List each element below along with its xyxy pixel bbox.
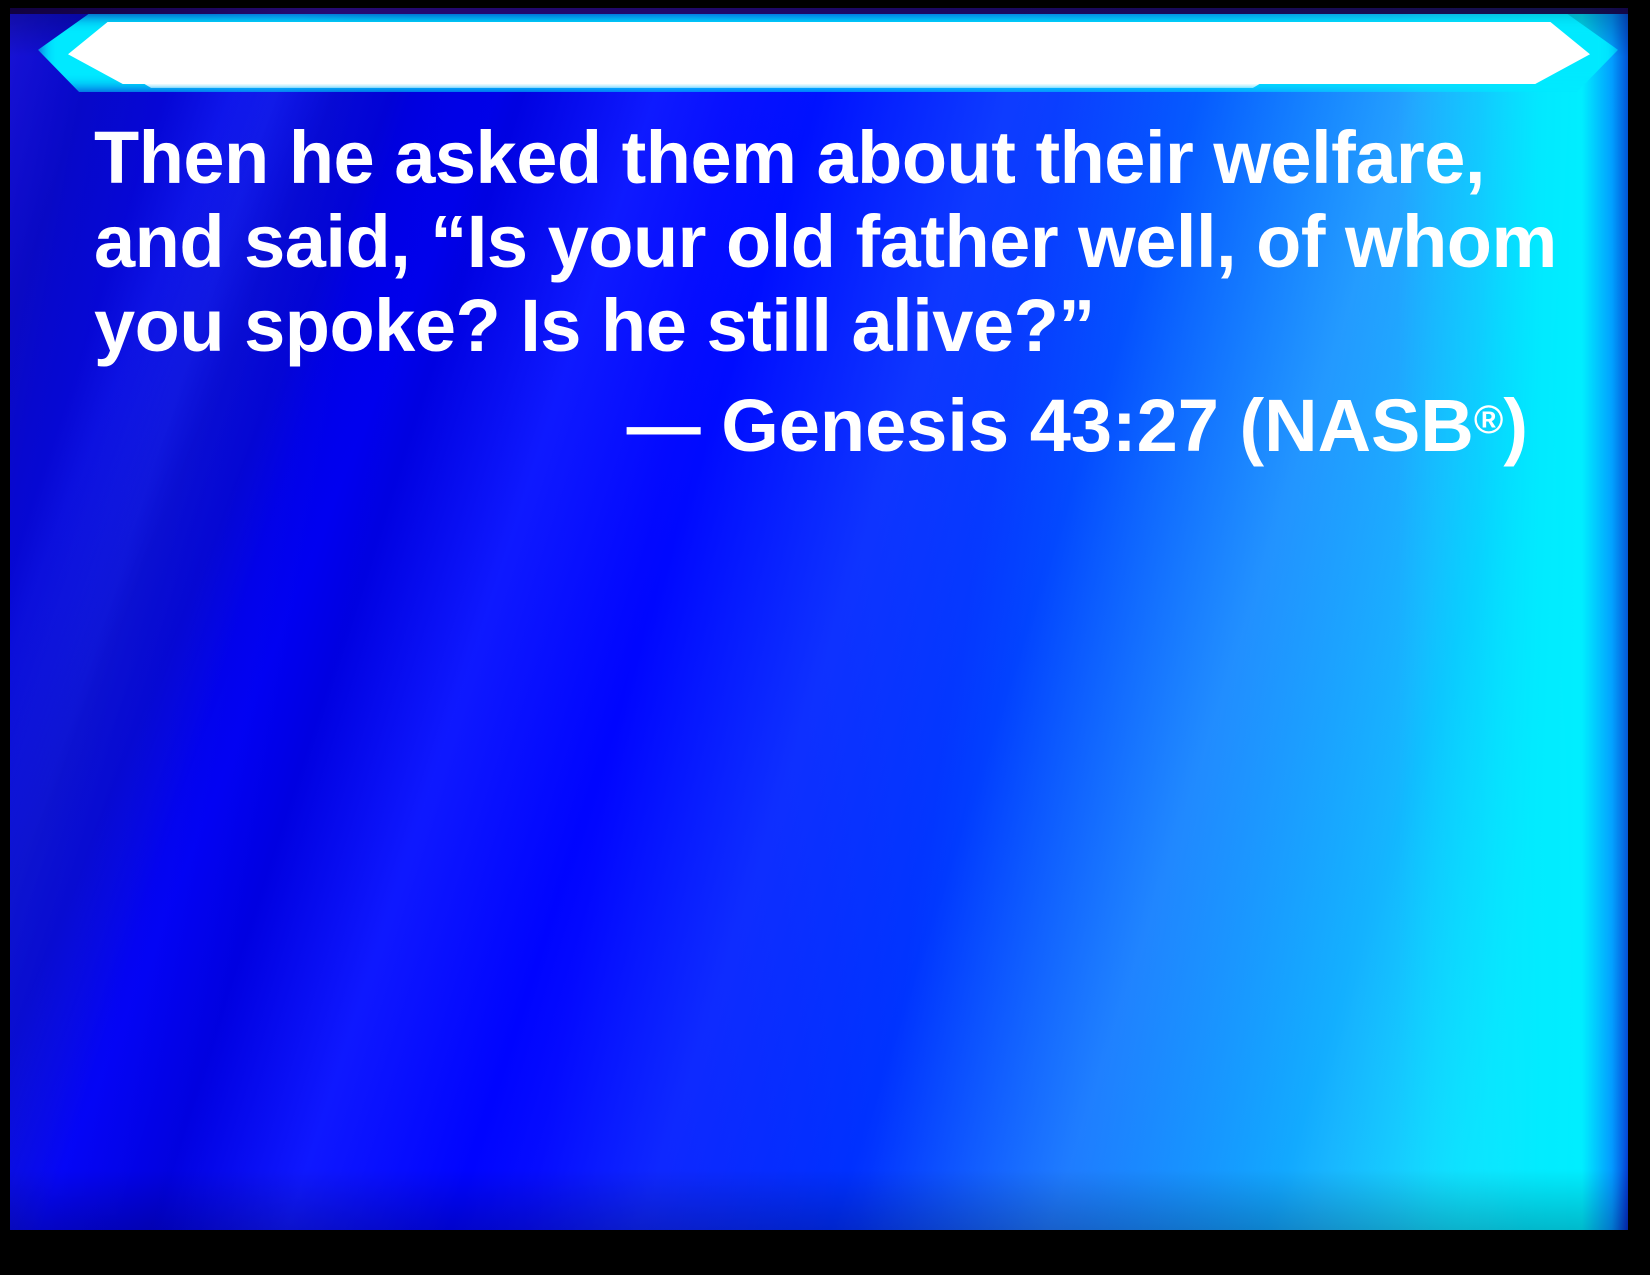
banner-white-core-lower bbox=[76, 50, 1328, 88]
verse-slide: Then he asked them about their welfare, … bbox=[0, 0, 1650, 1275]
verse-line-2: and said, “Is your old father well, of w… bbox=[94, 200, 1534, 284]
verse-line-1: Then he asked them about their welfare, bbox=[94, 116, 1534, 200]
banner-top-rule bbox=[10, 8, 1628, 14]
attribution-suffix: ) bbox=[1503, 384, 1528, 467]
top-highlight-banner bbox=[10, 8, 1628, 104]
registered-trademark-icon: ® bbox=[1474, 398, 1503, 442]
verse-text-block: Then he asked them about their welfare, … bbox=[94, 116, 1534, 468]
attribution-prefix: — Genesis 43:27 (NASB bbox=[627, 384, 1474, 467]
artwork-panel: Then he asked them about their welfare, … bbox=[10, 8, 1628, 1230]
verse-attribution: — Genesis 43:27 (NASB®) bbox=[94, 368, 1534, 468]
verse-line-3: you spoke? Is he still alive?” bbox=[94, 284, 1534, 368]
